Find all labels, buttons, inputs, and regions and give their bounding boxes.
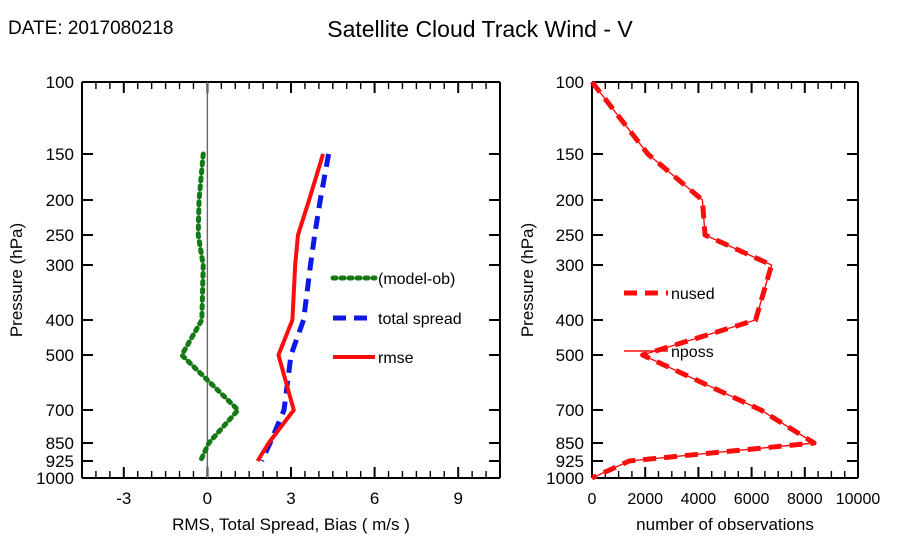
x-tick-label: 0 <box>588 491 597 508</box>
x-axis-title: number of observations <box>636 515 814 534</box>
x-tick-label: 2000 <box>627 491 663 508</box>
y-tick-label: 1000 <box>36 469 74 488</box>
y-tick-label: 500 <box>556 346 584 365</box>
y-tick-label: 400 <box>556 311 584 330</box>
x-tick-label: 10000 <box>836 491 881 508</box>
y-axis-title: Pressure (hPa) <box>518 223 537 337</box>
y-tick-label: 150 <box>556 145 584 164</box>
y-tick-label: 850 <box>46 434 74 453</box>
x-tick-label: 8000 <box>787 491 823 508</box>
series-nposs <box>592 82 814 478</box>
y-tick-label: 1000 <box>546 469 584 488</box>
legend-label: rmse <box>378 350 414 367</box>
y-axis-title: Pressure (hPa) <box>7 223 26 337</box>
y-tick-label: 150 <box>46 145 74 164</box>
x-tick-label: -3 <box>116 489 131 508</box>
series-total-spread <box>262 154 329 461</box>
y-tick-label: 250 <box>46 226 74 245</box>
x-axis-title: RMS, Total Spread, Bias ( m/s ) <box>172 515 410 534</box>
x-tick-label: 4000 <box>681 491 717 508</box>
y-tick-label: 850 <box>556 434 584 453</box>
legend-label: nused <box>671 286 715 303</box>
y-tick-label: 250 <box>556 226 584 245</box>
x-tick-label: 6000 <box>734 491 770 508</box>
y-tick-label: 200 <box>556 191 584 210</box>
x-tick-label: 0 <box>203 489 212 508</box>
y-tick-label: 100 <box>556 73 584 92</box>
y-tick-label: 700 <box>556 401 584 420</box>
figure-canvas: -303691001502002503004005007008509251000… <box>0 0 900 560</box>
y-tick-label: 300 <box>556 256 584 275</box>
x-tick-label: 6 <box>370 489 379 508</box>
y-tick-label: 200 <box>46 191 74 210</box>
y-tick-label: 300 <box>46 256 74 275</box>
legend-label: (model-ob) <box>378 271 455 288</box>
series-rmse <box>258 154 323 461</box>
legend-label: total spread <box>378 311 462 328</box>
series-nused <box>592 82 814 478</box>
left-plot: -303691001502002503004005007008509251000… <box>7 73 500 534</box>
right-plot: 0200040006000800010000100150200250300400… <box>518 73 880 534</box>
y-tick-label: 100 <box>46 73 74 92</box>
plot-page: DATE: 2017080218 Satellite Cloud Track W… <box>0 0 900 560</box>
page-title: Satellite Cloud Track Wind - V <box>0 16 900 43</box>
y-tick-label: 500 <box>46 346 74 365</box>
legend-label: nposs <box>671 344 714 361</box>
y-tick-label: 400 <box>46 311 74 330</box>
y-tick-label: 700 <box>46 401 74 420</box>
x-tick-label: 3 <box>286 489 295 508</box>
x-tick-label: 9 <box>453 489 462 508</box>
series--model-ob- <box>182 154 238 461</box>
